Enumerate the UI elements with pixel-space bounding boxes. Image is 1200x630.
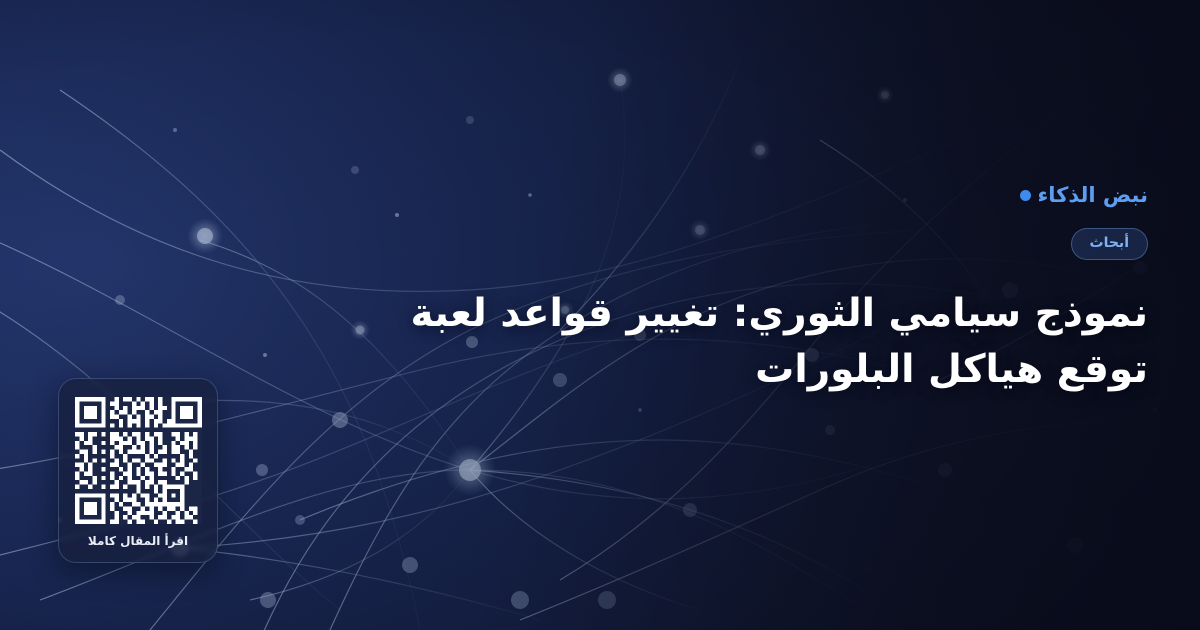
page-title: نموذج سيامي الثوري: تغيير قواعد لعبة توق… bbox=[408, 286, 1148, 397]
content-block: نبض الذكاء أبحاث نموذج سيامي الثوري: تغي… bbox=[388, 182, 1148, 423]
category-badge[interactable]: أبحاث bbox=[1071, 228, 1148, 260]
brand-lockup: نبض الذكاء bbox=[388, 182, 1148, 208]
badge-row: أبحاث bbox=[388, 228, 1148, 260]
brand-dot-icon bbox=[1020, 190, 1031, 201]
share-card-canvas: نبض الذكاء أبحاث نموذج سيامي الثوري: تغي… bbox=[0, 0, 1200, 630]
qr-card[interactable]: اقرأ المقال كاملا bbox=[58, 378, 218, 563]
qr-caption: اقرأ المقال كاملا bbox=[88, 535, 188, 547]
brand-name: نبض الذكاء bbox=[1038, 185, 1148, 206]
qr-code-icon[interactable] bbox=[75, 397, 202, 524]
